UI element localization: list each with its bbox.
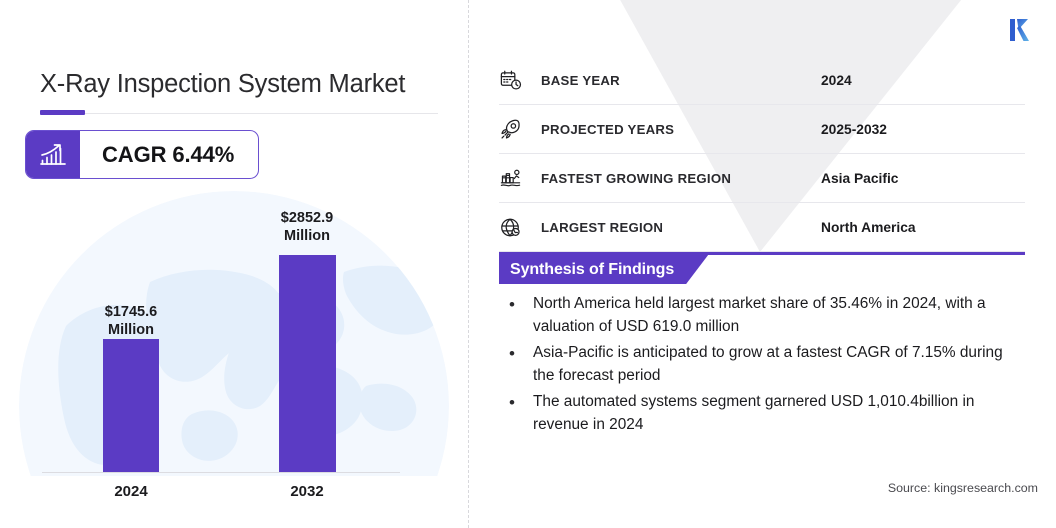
bullet-marker: • — [499, 341, 533, 367]
bar-2032 — [279, 255, 336, 472]
synthesis-rule — [499, 252, 1025, 255]
bar-value-line1: $1745.6 — [79, 303, 183, 321]
info-value: North America — [821, 220, 1025, 235]
findings-list: • North America held largest market shar… — [499, 292, 1019, 438]
chart-baseline — [42, 472, 400, 473]
bar-value-label-2024: $1745.6 Million — [79, 303, 183, 339]
bar-value-line1: $2852.9 — [255, 209, 359, 227]
table-row: LARGEST REGION North America — [499, 203, 1025, 252]
table-row: BASE YEAR 2024 — [499, 56, 1025, 105]
bullet-marker: • — [499, 292, 533, 318]
source-label: Source: kingsresearch.com — [888, 481, 1038, 495]
list-item: • Asia-Pacific is anticipated to grow at… — [499, 341, 1019, 388]
calendar-clock-icon — [499, 69, 541, 92]
bullet-text: Asia-Pacific is anticipated to grow at a… — [533, 341, 1019, 388]
bullet-text: North America held largest market share … — [533, 292, 1019, 339]
list-item: • North America held largest market shar… — [499, 292, 1019, 339]
info-key: PROJECTED YEARS — [541, 122, 821, 137]
x-axis-label-2024: 2024 — [79, 483, 183, 500]
bar-chart: $1745.6 Million $2852.9 Million 2024 203… — [0, 0, 468, 528]
info-value: Asia Pacific — [821, 171, 1025, 186]
info-value: 2025-2032 — [821, 122, 1025, 137]
rocket-icon — [499, 118, 541, 141]
table-row: FASTEST GROWING REGION Asia Pacific — [499, 154, 1025, 203]
right-panel: BASE YEAR 2024 — [468, 0, 1056, 528]
left-panel: X-Ray Inspection System Market — [0, 0, 468, 528]
info-key: FASTEST GROWING REGION — [541, 171, 821, 186]
synthesis-heading: Synthesis of Findings — [499, 255, 708, 284]
info-key: LARGEST REGION — [541, 220, 821, 235]
info-key: BASE YEAR — [541, 73, 821, 88]
bar-value-line2: Million — [255, 227, 359, 245]
table-row: PROJECTED YEARS 2025-2032 — [499, 105, 1025, 154]
globe-icon — [499, 216, 541, 239]
bar-2024 — [103, 339, 159, 472]
x-axis-label-2032: 2032 — [255, 483, 359, 500]
info-table: BASE YEAR 2024 — [499, 56, 1025, 252]
kings-research-k-logo — [1004, 13, 1038, 47]
bullet-text: The automated systems segment garnered U… — [533, 390, 1019, 437]
info-value: 2024 — [821, 73, 1025, 88]
list-item: • The automated systems segment garnered… — [499, 390, 1019, 437]
bar-value-line2: Million — [79, 321, 183, 339]
infographic-page: X-Ray Inspection System Market — [0, 0, 1056, 528]
city-growth-icon — [499, 167, 541, 190]
bullet-marker: • — [499, 390, 533, 416]
bar-value-label-2032: $2852.9 Million — [255, 209, 359, 245]
